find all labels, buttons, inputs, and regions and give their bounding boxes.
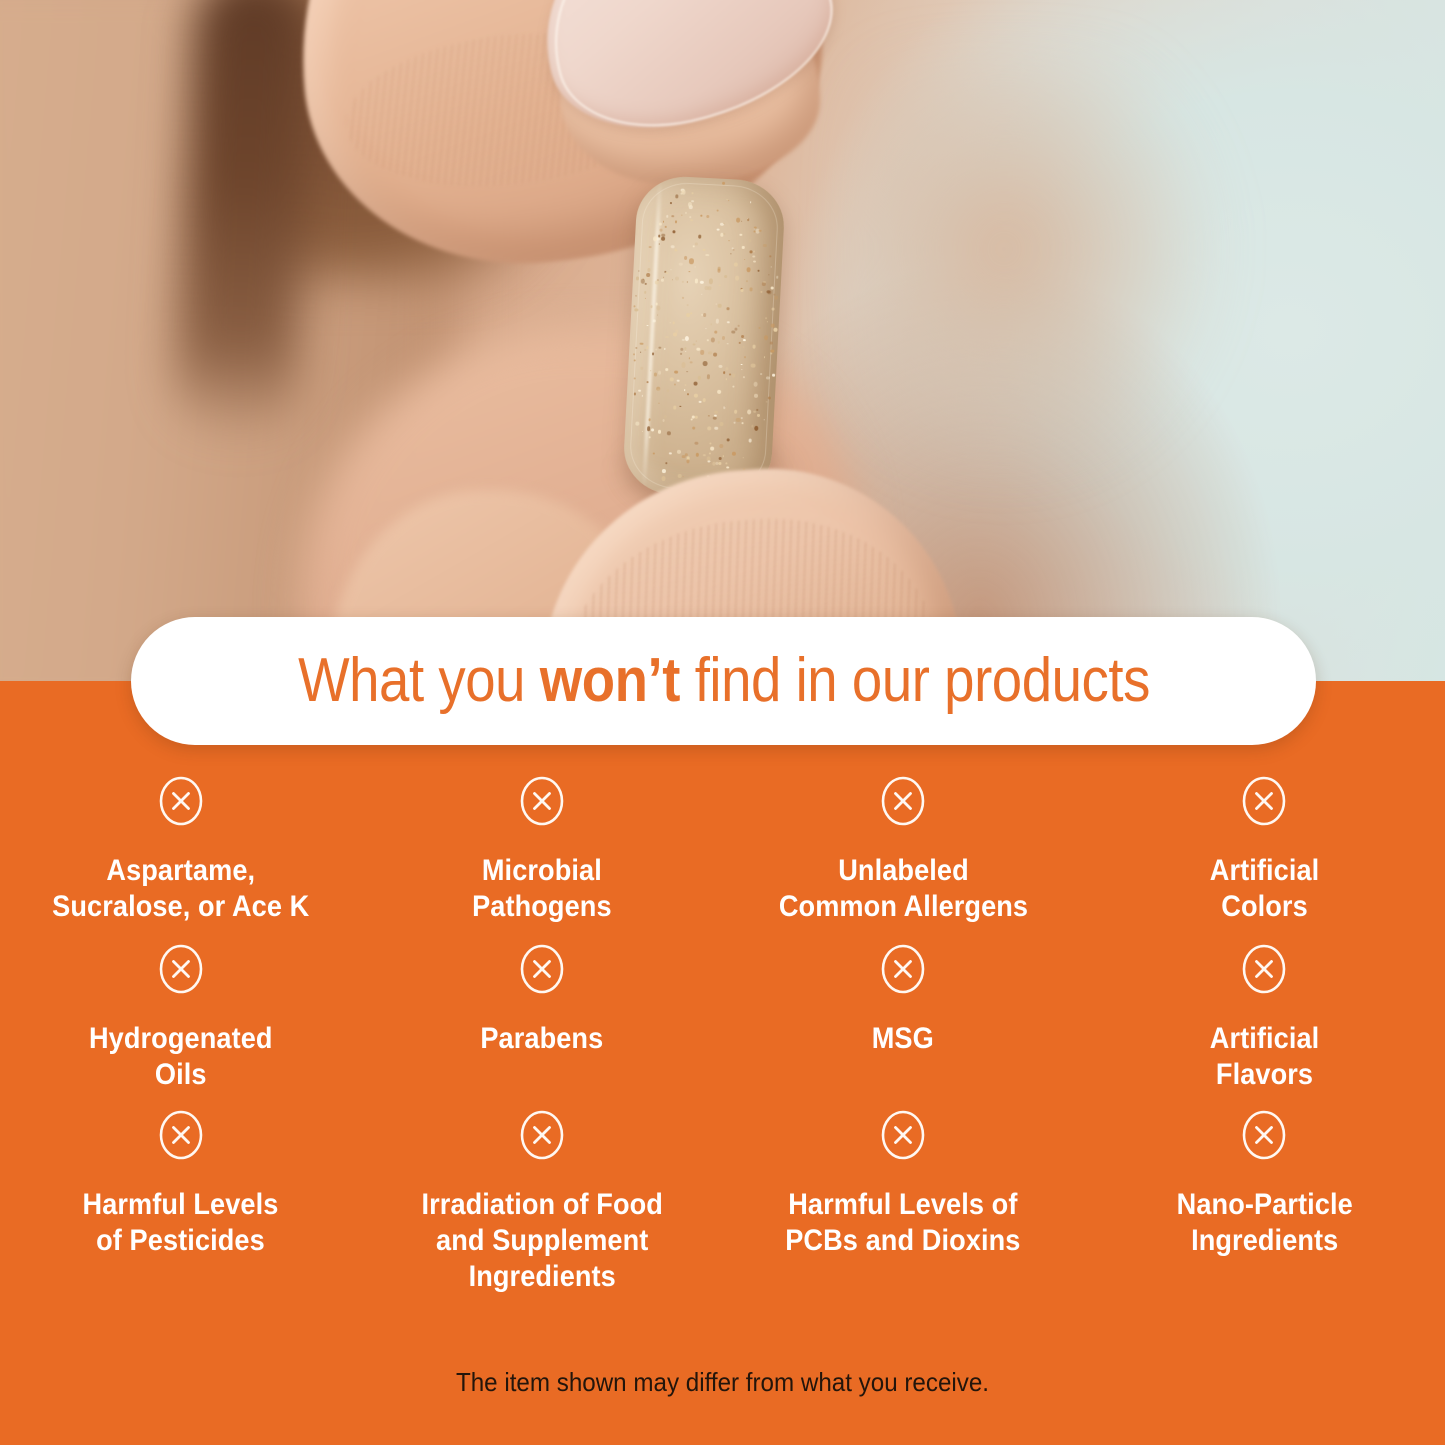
tablet-speck: [658, 243, 659, 244]
tablet-speck: [706, 339, 709, 341]
tablet-speck: [723, 222, 725, 224]
grid-item-aspartame: Aspartame, Sucralose, or Ace K: [0, 775, 361, 943]
circle-x-icon: [880, 775, 926, 827]
tablet-speck: [633, 359, 635, 361]
tablet-speck: [753, 230, 755, 232]
grid-item-label: Microbial Pathogens: [472, 853, 612, 925]
grid-item-nano-particle: Nano-Particle Ingredients: [1084, 1109, 1445, 1289]
grid-item-parabens: Parabens: [361, 943, 722, 1109]
tablet-speck: [677, 474, 681, 478]
tablet-speck: [684, 256, 688, 260]
tablet-speck: [763, 244, 767, 247]
tablet-speck: [686, 304, 688, 306]
circle-x-icon: [880, 1109, 926, 1161]
grid-item-artificial-flavors: Artificial Flavors: [1084, 943, 1445, 1109]
tablet-speck: [716, 209, 718, 211]
tablet-speck: [703, 313, 706, 317]
tablet-speck: [742, 422, 744, 424]
tablet-speck: [634, 393, 636, 396]
tablet-speck: [724, 275, 727, 278]
grid-item-label: Unlabeled Common Allergens: [778, 853, 1027, 925]
headline-pill: What you won’t find in our products: [131, 617, 1316, 745]
tablet-speck: [718, 304, 722, 308]
tablet-speck: [770, 341, 773, 345]
grid-item-label: Harmful Levels of PCBs and Dioxins: [786, 1187, 1021, 1259]
grid-item-label: Parabens: [480, 1021, 603, 1057]
grid-item-hydrogenated-oils: Hydrogenated Oils: [0, 943, 361, 1109]
tablet-speck: [648, 419, 650, 422]
tablet-speck: [712, 417, 716, 420]
product-infographic-card: What you won’t find in our products Aspa…: [0, 0, 1445, 1445]
tablet-speck: [703, 454, 706, 456]
tablet-speck: [695, 340, 696, 341]
tablet-speck: [679, 263, 683, 266]
tablet-speck: [736, 418, 740, 422]
tablet-speck: [708, 278, 712, 284]
tablet-speck: [659, 228, 663, 231]
circle-x-icon: [519, 943, 565, 995]
tablet-speck: [681, 362, 685, 368]
tablet-speck: [773, 328, 777, 332]
tablet-speck: [726, 462, 728, 464]
tablet-speck: [698, 234, 701, 238]
tablet-speck: [651, 352, 654, 355]
tablet-speck: [756, 414, 760, 417]
grid-item-label: Harmful Levels of Pesticides: [83, 1187, 279, 1259]
headline-suffix: find in our products: [679, 646, 1149, 715]
tablet-speck: [647, 381, 649, 383]
tablet-speck: [715, 426, 719, 430]
tablet-speck: [760, 373, 762, 375]
circle-x-icon: [880, 943, 926, 995]
tablet-speck: [635, 308, 638, 312]
tablet-speck: [684, 389, 686, 390]
tablet-speck: [767, 396, 771, 400]
grid-item-pcbs-dioxins: Harmful Levels of PCBs and Dioxins: [723, 1109, 1084, 1289]
disclaimer-text: The item shown may differ from what you …: [51, 1366, 1395, 1398]
tablet-speck: [764, 335, 768, 340]
tablet-speck: [735, 276, 739, 281]
tablet-speck: [712, 352, 716, 356]
grid-item-microbial-pathogens: Microbial Pathogens: [361, 775, 722, 943]
tablet-speck: [694, 394, 698, 398]
tablet-speck: [644, 291, 646, 294]
tablet-speck: [689, 259, 694, 265]
excluded-ingredients-grid: Aspartame, Sucralose, or Ace K Microbial…: [0, 775, 1445, 1289]
grid-item-label: Aspartame, Sucralose, or Ace K: [52, 853, 309, 925]
tablet-speck: [673, 406, 676, 410]
tablet-speck: [716, 319, 720, 323]
tablet-speck: [769, 256, 771, 257]
tablet-speck: [743, 346, 745, 348]
tablet-speck: [657, 388, 660, 391]
tablet-speck: [767, 290, 771, 295]
tablet-speck: [731, 373, 735, 377]
tablet-speck: [669, 452, 671, 455]
tablet-speck: [738, 342, 740, 344]
tablet-in-hand-photo: [0, 0, 1445, 682]
tablet-speck: [682, 190, 686, 195]
tablet-speck: [706, 215, 709, 218]
tablet-speck: [725, 378, 726, 380]
grid-item-unlabeled-allergens: Unlabeled Common Allergens: [723, 775, 1084, 943]
tablet-speck: [682, 280, 685, 282]
tablet-speck: [741, 289, 743, 291]
circle-x-icon: [158, 943, 204, 995]
page-title: What you won’t find in our products: [298, 650, 1150, 712]
circle-x-icon: [158, 775, 204, 827]
tablet-speck: [695, 266, 696, 267]
tablet-speck: [671, 215, 674, 218]
tablet-speck: [743, 356, 745, 358]
tablet-speck: [772, 374, 776, 377]
tablet-speck: [705, 328, 706, 329]
tablet-speck: [700, 215, 702, 217]
tablet-speck: [685, 212, 686, 213]
tablet-speck: [759, 327, 761, 329]
tablet-speck: [658, 346, 661, 349]
tablet-speck: [738, 325, 740, 327]
tablet-speck: [703, 361, 707, 366]
tablet-speck: [675, 276, 679, 280]
tablet-speck: [691, 192, 693, 195]
tablet-speck: [669, 377, 673, 381]
grid-item-label: Artificial Colors: [1210, 853, 1320, 925]
grid-item-irradiation: Irradiation of Food and Supplement Ingre…: [361, 1109, 722, 1289]
tablet-speck: [661, 236, 665, 240]
tablet-speck: [707, 426, 711, 430]
circle-x-icon: [519, 775, 565, 827]
headline-prefix: What you: [298, 646, 540, 715]
tablet-speck: [754, 393, 758, 398]
tablet-speck: [751, 363, 756, 368]
tablet-speck: [640, 342, 644, 345]
tablet-speck: [677, 379, 680, 381]
tablet-speck: [645, 283, 647, 284]
tablet-speck: [741, 246, 744, 249]
tablet-speck: [691, 200, 693, 202]
tablet-speck: [693, 343, 696, 345]
tablet-speck: [636, 276, 639, 280]
tablet-speck: [766, 401, 767, 402]
circle-x-icon: [1241, 775, 1287, 827]
tablet-speck: [748, 438, 751, 442]
tablet-speck: [710, 324, 712, 326]
tablet-speck: [718, 365, 722, 369]
tablet-speck: [749, 250, 752, 253]
tablet-speck: [638, 390, 641, 392]
grid-item-artificial-colors: Artificial Colors: [1084, 775, 1445, 943]
finger-gap-shadow: [173, 0, 317, 443]
tablet-speck: [634, 305, 636, 307]
tablet-speck: [734, 262, 738, 266]
circle-x-icon: [1241, 1109, 1287, 1161]
tablet-speck: [665, 272, 668, 275]
tablet-speck: [658, 371, 661, 375]
grid-item-pesticides: Harmful Levels of Pesticides: [0, 1109, 361, 1289]
tablet-speck: [728, 240, 729, 241]
tablet-speck: [776, 276, 779, 279]
tablet-speck: [722, 182, 725, 185]
tablet-speck: [655, 302, 658, 305]
grid-item-label: MSG: [872, 1021, 934, 1057]
tablet-speck: [734, 327, 737, 330]
tablet-speck: [685, 351, 686, 352]
headline-emphasis: won’t: [539, 646, 679, 715]
tablet-speck: [760, 291, 762, 293]
grid-item-label: Nano-Particle Ingredients: [1176, 1187, 1352, 1259]
circle-x-icon: [158, 1109, 204, 1161]
tablet-speck: [743, 339, 746, 341]
tablet-speck: [754, 381, 758, 386]
tablet-speck: [731, 451, 736, 455]
tablet-speck: [674, 370, 678, 374]
tablet-speck: [635, 295, 637, 297]
tablet-speck: [690, 313, 692, 315]
grid-item-label: Irradiation of Food and Supplement Ingre…: [421, 1187, 662, 1295]
circle-x-icon: [519, 1109, 565, 1161]
tablet-speck: [753, 410, 756, 412]
tablet-speck: [682, 455, 686, 458]
tablet-speck: [771, 307, 774, 311]
tablet-speck: [675, 248, 677, 250]
circle-x-icon: [1241, 943, 1287, 995]
tablet-speck: [690, 361, 693, 364]
tablet-speck: [690, 219, 693, 221]
supplement-tablet: [622, 174, 786, 499]
tablet-speck: [646, 273, 650, 277]
grid-item-msg: MSG: [723, 943, 1084, 1109]
tablet-speck: [709, 442, 711, 445]
grid-item-label: Hydrogenated Oils: [89, 1021, 273, 1093]
tablet-speck: [636, 421, 640, 425]
tablet-speck: [692, 427, 695, 430]
tablet-speck: [717, 341, 720, 344]
tablet-speck: [770, 350, 774, 354]
grid-item-label: Artificial Flavors: [1210, 1021, 1320, 1093]
tablet-speck: [746, 280, 748, 282]
photo-bokeh-blob: [860, 60, 1220, 480]
tablet-speck: [774, 296, 778, 300]
tablet-speck: [647, 268, 650, 272]
tablet-speck: [665, 335, 669, 338]
tablet-speck: [655, 348, 657, 350]
tablet-speck: [721, 336, 724, 340]
tablet-speck: [743, 376, 745, 378]
tablet-speck: [689, 358, 690, 359]
tablet-speck: [757, 269, 759, 271]
tablet-speck: [661, 279, 664, 282]
tablet-speck: [756, 409, 758, 411]
tablet-speck: [726, 343, 728, 345]
tablet-speck: [670, 202, 672, 203]
tablet-speck: [638, 270, 639, 272]
tablet-speck: [658, 403, 659, 404]
